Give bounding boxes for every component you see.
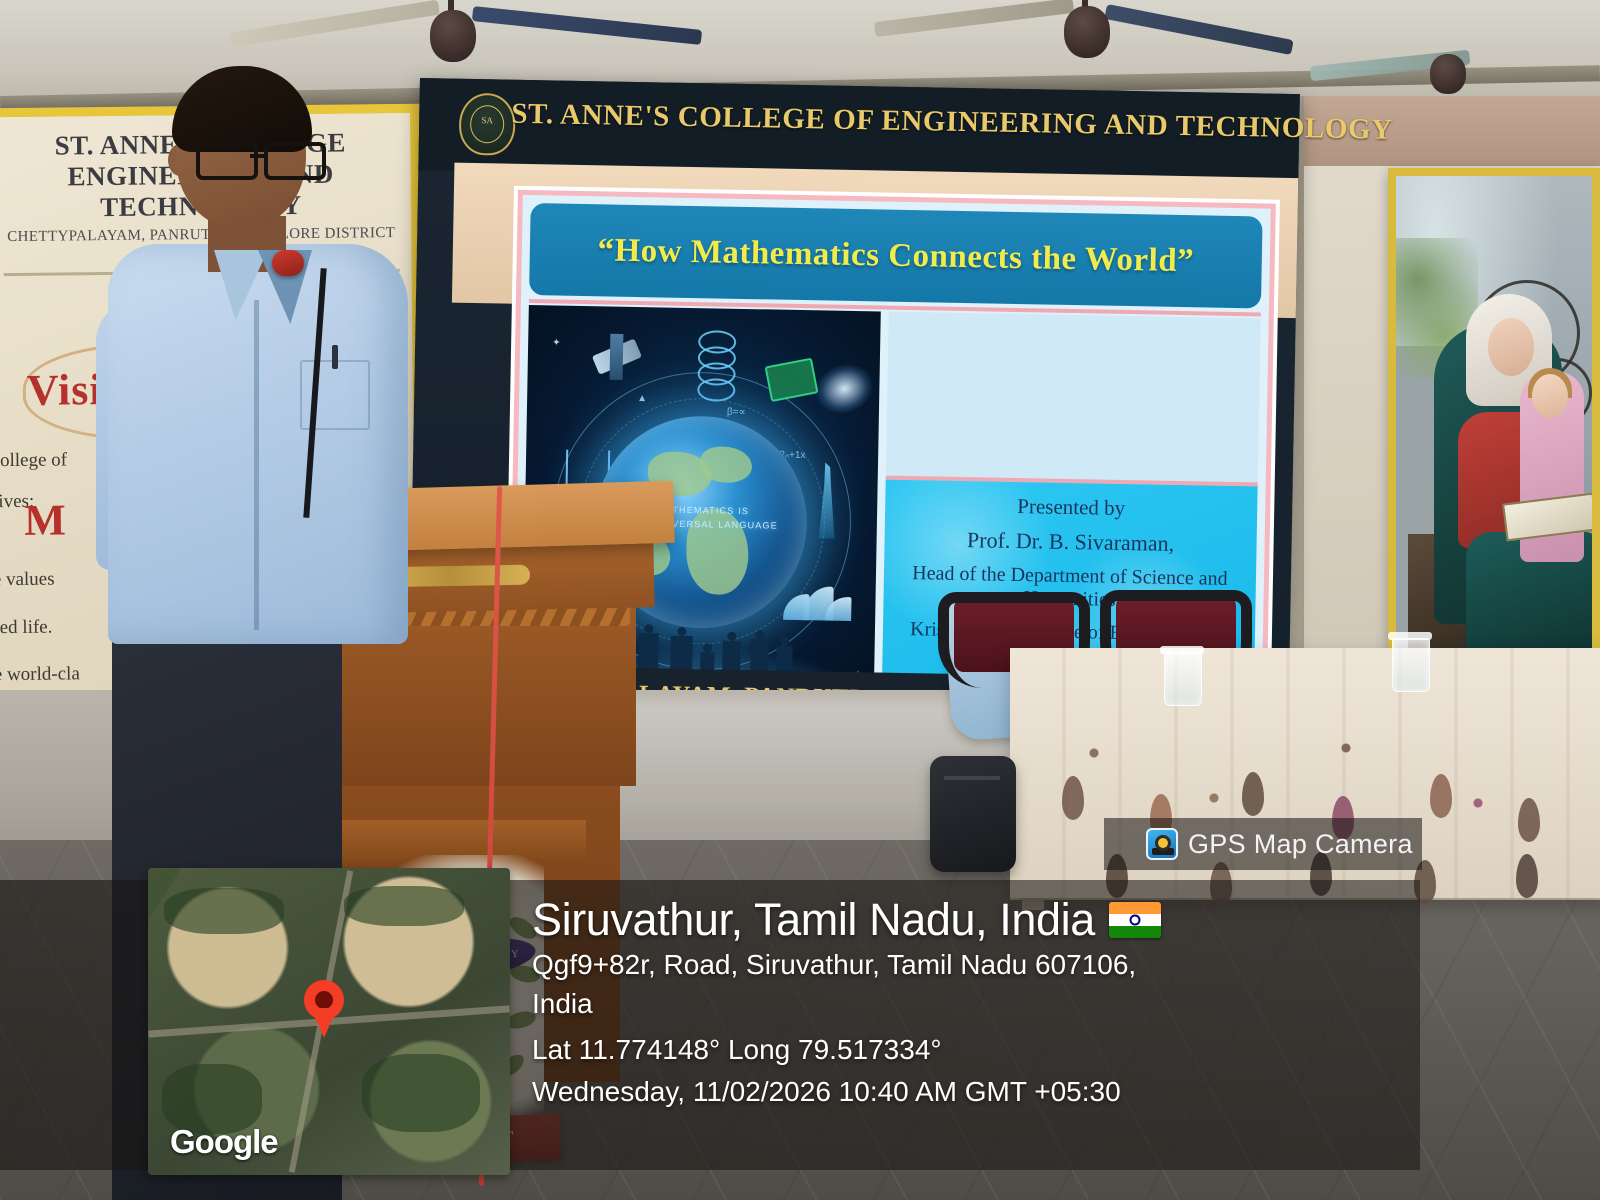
gps-address-line1: Qgf9+82r, Road, Siruvathur, Tamil Nadu 6…: [532, 945, 1432, 985]
google-watermark: Google: [170, 1123, 278, 1161]
opera-house-icon: [781, 578, 856, 621]
microchip-icon: [765, 358, 819, 402]
slide-blank-panel: [886, 312, 1261, 487]
dna-icon: [697, 330, 732, 407]
gps-text-block: Siruvathur, Tamil Nadu, India Qgf9+82r, …: [532, 896, 1432, 1112]
glass-lid: [1388, 632, 1432, 640]
slide-title-text: “How Mathematics Connects the World”: [597, 232, 1194, 280]
presenter-name: Prof. Dr. B. Sivaraman,: [884, 526, 1256, 559]
gps-coordinates: Lat 11.774148° Long 79.517334°: [532, 1030, 1432, 1070]
gps-place-name: Siruvathur, Tamil Nadu, India: [532, 896, 1095, 945]
backpack: [930, 756, 1016, 872]
water-glass: [1164, 652, 1202, 706]
india-flag-icon: [1109, 902, 1161, 938]
gps-datetime: Wednesday, 11/02/2026 10:40 AM GMT +05:3…: [532, 1072, 1432, 1112]
gps-place-row: Siruvathur, Tamil Nadu, India: [532, 896, 1432, 945]
glass-lid: [1160, 646, 1204, 654]
gps-app-badge: GPS Map Camera: [1104, 818, 1422, 870]
framed-painting: [1388, 168, 1600, 660]
pen-icon: [332, 345, 338, 369]
eyeglasses-icon: [196, 142, 324, 172]
gps-address-line2: India: [532, 984, 1432, 1024]
water-glass: [1392, 638, 1430, 692]
galaxy-icon: [809, 357, 879, 421]
presenter-intro: Presented by: [885, 492, 1257, 524]
gps-app-name: GPS Map Camera: [1188, 829, 1413, 860]
map-thumbnail[interactable]: Google: [148, 868, 510, 1175]
camera-icon: [1146, 828, 1178, 860]
slide-title-band: “How Mathematics Connects the World”: [529, 203, 1263, 308]
poster-mission-heading: M: [24, 494, 66, 545]
satellite-icon: [592, 338, 642, 374]
microphone-icon: [272, 250, 304, 276]
screenshot-root: ST. ANNE'S COLLEGE ENGINEERING AND TECHN…: [0, 0, 1600, 1200]
location-pin-icon: [304, 980, 344, 1020]
college-crest-icon: SA: [459, 93, 516, 156]
